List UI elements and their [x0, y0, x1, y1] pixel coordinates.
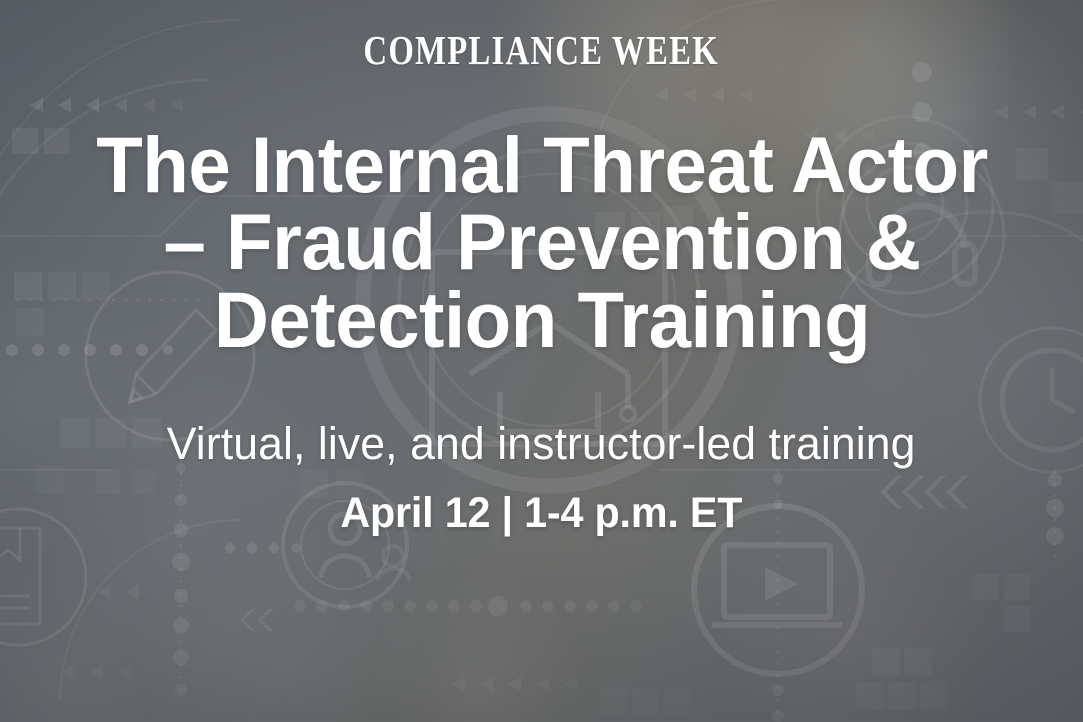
- page-title: The Internal Threat Actor – Fraud Preven…: [22, 126, 1062, 358]
- banner-content: COMPLIANCE WEEK The Internal Threat Acto…: [0, 0, 1083, 722]
- promo-banner: COMPLIANCE WEEK The Internal Threat Acto…: [0, 0, 1083, 722]
- title-line-1: The Internal Threat Actor: [40, 126, 1044, 203]
- subtitle: Virtual, live, and instructor-led traini…: [167, 420, 916, 467]
- title-line-3: Detection Training: [40, 281, 1044, 358]
- event-date-time: April 12 | 1-4 p.m. ET: [341, 491, 743, 536]
- compliance-week-logo: COMPLIANCE WEEK: [364, 30, 719, 71]
- title-line-2: – Fraud Prevention &: [40, 203, 1044, 280]
